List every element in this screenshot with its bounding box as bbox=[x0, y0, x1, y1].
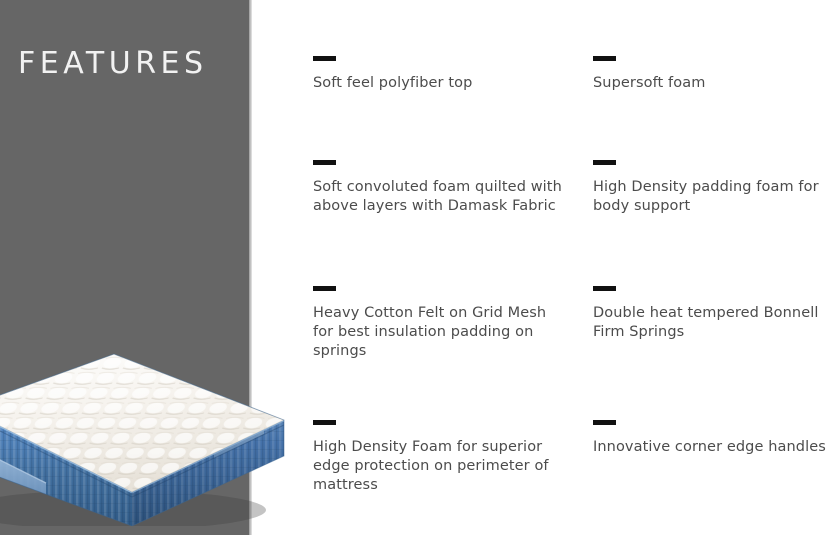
features-list: Soft feel polyfiber top Soft convoluted … bbox=[313, 0, 832, 535]
page-title: FEATURES bbox=[18, 49, 208, 79]
feature-item: High Density padding foam for body suppo… bbox=[593, 160, 832, 216]
dash-marker-icon bbox=[593, 286, 616, 291]
dash-marker-icon bbox=[313, 56, 336, 61]
feature-text: Double heat tempered Bonnell Firm Spring… bbox=[593, 304, 832, 342]
dash-marker-icon bbox=[313, 420, 336, 425]
feature-text: Soft convoluted foam quilted with above … bbox=[313, 178, 565, 216]
feature-text: High Density Foam for superior edge prot… bbox=[313, 438, 565, 495]
features-slide: FEATURES bbox=[0, 0, 832, 535]
feature-text: Supersoft foam bbox=[593, 74, 705, 93]
dash-marker-icon bbox=[313, 160, 336, 165]
feature-text: Soft feel polyfiber top bbox=[313, 74, 472, 93]
dash-marker-icon bbox=[593, 160, 616, 165]
feature-item: Soft convoluted foam quilted with above … bbox=[313, 160, 565, 216]
feature-text: Heavy Cotton Felt on Grid Mesh for best … bbox=[313, 304, 565, 361]
feature-item: Supersoft foam bbox=[593, 56, 705, 93]
feature-text: High Density padding foam for body suppo… bbox=[593, 178, 832, 216]
dash-marker-icon bbox=[593, 56, 616, 61]
feature-text: Innovative corner edge handles bbox=[593, 438, 826, 457]
feature-item: Innovative corner edge handles bbox=[593, 420, 826, 457]
feature-item: Soft feel polyfiber top bbox=[313, 56, 472, 93]
dash-marker-icon bbox=[593, 420, 616, 425]
mattress-photo bbox=[0, 296, 294, 526]
feature-item: High Density Foam for superior edge prot… bbox=[313, 420, 565, 495]
feature-item: Double heat tempered Bonnell Firm Spring… bbox=[593, 286, 832, 342]
dash-marker-icon bbox=[313, 286, 336, 291]
feature-item: Heavy Cotton Felt on Grid Mesh for best … bbox=[313, 286, 565, 361]
